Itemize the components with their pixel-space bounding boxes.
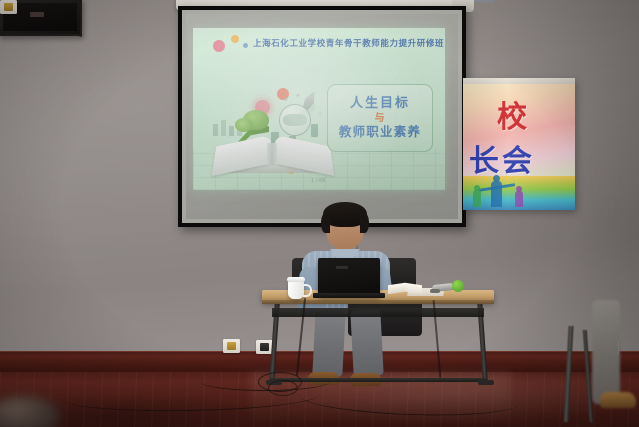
laptop-logo bbox=[336, 266, 348, 269]
slide-page-number: 1 / 66 bbox=[311, 178, 325, 184]
book-page-left bbox=[388, 283, 405, 294]
slide-dot-orange bbox=[231, 35, 239, 43]
wall-banner: 校 长会 bbox=[463, 78, 575, 210]
table-edge bbox=[262, 300, 494, 304]
slide-dot-blue bbox=[243, 43, 248, 48]
projected-slide: 上海石化工业学校青年骨干教师能力提升研修班 ✦ ✧ bbox=[193, 28, 445, 190]
slide-title-line-2: 与 bbox=[375, 113, 386, 124]
laptop-base bbox=[313, 293, 385, 298]
screen-canvas: 上海石化工业学校青年骨干教师能力提升研修班 ✦ ✧ bbox=[182, 10, 462, 223]
banner-character-1: 校 bbox=[497, 92, 527, 136]
book-illustration: ✦ ✧ ✦ bbox=[211, 88, 335, 173]
silhouette-adult-arms bbox=[479, 183, 515, 191]
star-icon-2: ✧ bbox=[317, 110, 323, 118]
slide-title-box: 人生目标 与 教师职业素养 bbox=[327, 84, 433, 152]
presenter-legs bbox=[312, 310, 396, 388]
wall-outlet-left bbox=[223, 339, 240, 353]
banner-character-2: 长会 bbox=[469, 136, 535, 180]
slide-header-text: 上海石化工业学校青年骨干教师能力提升研修班 bbox=[253, 37, 444, 49]
banner-top-rail bbox=[463, 78, 575, 84]
presenter-leg-right bbox=[350, 309, 383, 376]
microphone-base bbox=[430, 289, 440, 293]
teacup bbox=[288, 280, 304, 299]
silhouette-child-right-body bbox=[515, 191, 523, 207]
speaker-badge bbox=[30, 12, 44, 17]
figure-icon-3 bbox=[311, 124, 318, 137]
presenter-hair-left bbox=[321, 213, 330, 233]
microphone bbox=[432, 280, 464, 294]
foreground-person-leg bbox=[592, 300, 620, 404]
presenter-leg-left bbox=[312, 309, 345, 376]
projector-screen: 上海石化工业学校青年骨干教师能力提升研修班 ✦ ✧ bbox=[178, 6, 466, 227]
silhouette-adult-head bbox=[493, 175, 500, 182]
presentation-room-photo: 上海石化工业学校青年骨干教师能力提升研修班 ✦ ✧ bbox=[0, 0, 639, 427]
table-foot-right bbox=[478, 380, 494, 385]
foreground-person-shoe bbox=[600, 392, 636, 408]
cable-coil-inner bbox=[268, 380, 298, 396]
banner-gradient-ground bbox=[463, 176, 575, 210]
book-spine bbox=[267, 143, 277, 165]
wall-outlet-1 bbox=[0, 0, 17, 14]
silhouette-child-left-head bbox=[474, 185, 480, 191]
silhouette-child-left-body bbox=[473, 190, 481, 207]
outlet-face-data bbox=[260, 343, 269, 351]
silhouette-child-right-head bbox=[516, 186, 522, 192]
microphone-windscreen bbox=[452, 280, 464, 292]
slide-title-line-3: 教师职业素养 bbox=[339, 125, 421, 139]
teacup-lid bbox=[287, 277, 305, 282]
star-icon-3: ✦ bbox=[283, 96, 289, 104]
laptop bbox=[318, 258, 380, 296]
star-icon-1: ✦ bbox=[295, 92, 301, 100]
tree-canopy-secondary bbox=[235, 118, 253, 132]
outlet-face-left bbox=[227, 342, 236, 350]
silhouette-adult-body bbox=[491, 181, 502, 207]
outlet-face-1 bbox=[4, 3, 13, 11]
slide-title-line-1: 人生目标 bbox=[350, 97, 410, 112]
slide-dot-pink bbox=[213, 40, 225, 52]
presenter-hair-right bbox=[360, 213, 369, 233]
